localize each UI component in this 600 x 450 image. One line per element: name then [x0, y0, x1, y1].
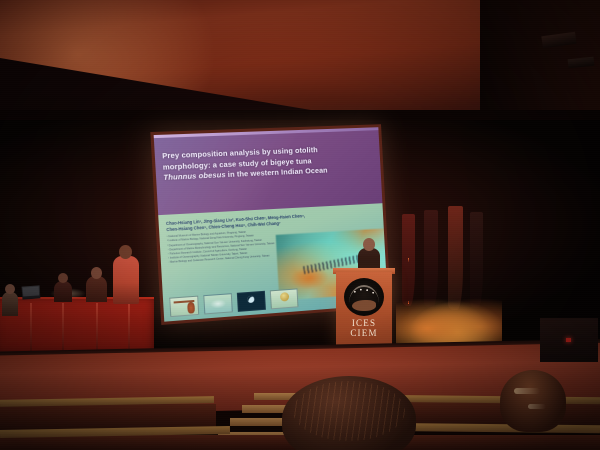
- podium-org-line-2: CIEM: [336, 328, 392, 338]
- presenter-laptop-icon: [22, 285, 41, 299]
- ices-fish-emblem-icon: [344, 278, 384, 316]
- floral-arrangement: [396, 292, 502, 348]
- standing-person-red-shirt: [113, 256, 139, 304]
- hair-strands: [293, 381, 406, 441]
- audience-head-right: [500, 370, 566, 432]
- podium-org-line-1: ICES: [336, 318, 392, 328]
- cloth-fold: [62, 303, 64, 355]
- emblem-dots: [351, 287, 377, 299]
- person-head: [91, 267, 102, 279]
- podium: ICES CIEM: [336, 272, 392, 346]
- auditorium-scene: Prey composition analysis by using otoli…: [0, 0, 600, 450]
- cloth-fold: [30, 303, 32, 355]
- seated-person-left: [2, 292, 18, 316]
- seated-panelist: [86, 276, 107, 302]
- person-head: [5, 284, 15, 294]
- hair-highlight: [528, 404, 546, 409]
- person-head: [58, 273, 68, 283]
- podium-organization-text: ICES CIEM: [336, 318, 392, 338]
- seated-panelist: [54, 281, 72, 302]
- person-head: [119, 245, 132, 259]
- hair-highlight: [514, 388, 540, 394]
- cloth-fold: [96, 303, 98, 355]
- emblem-fish: [352, 300, 376, 311]
- person-head: [363, 238, 375, 251]
- status-led-icon: [566, 338, 571, 342]
- cloth-fold: [128, 303, 130, 355]
